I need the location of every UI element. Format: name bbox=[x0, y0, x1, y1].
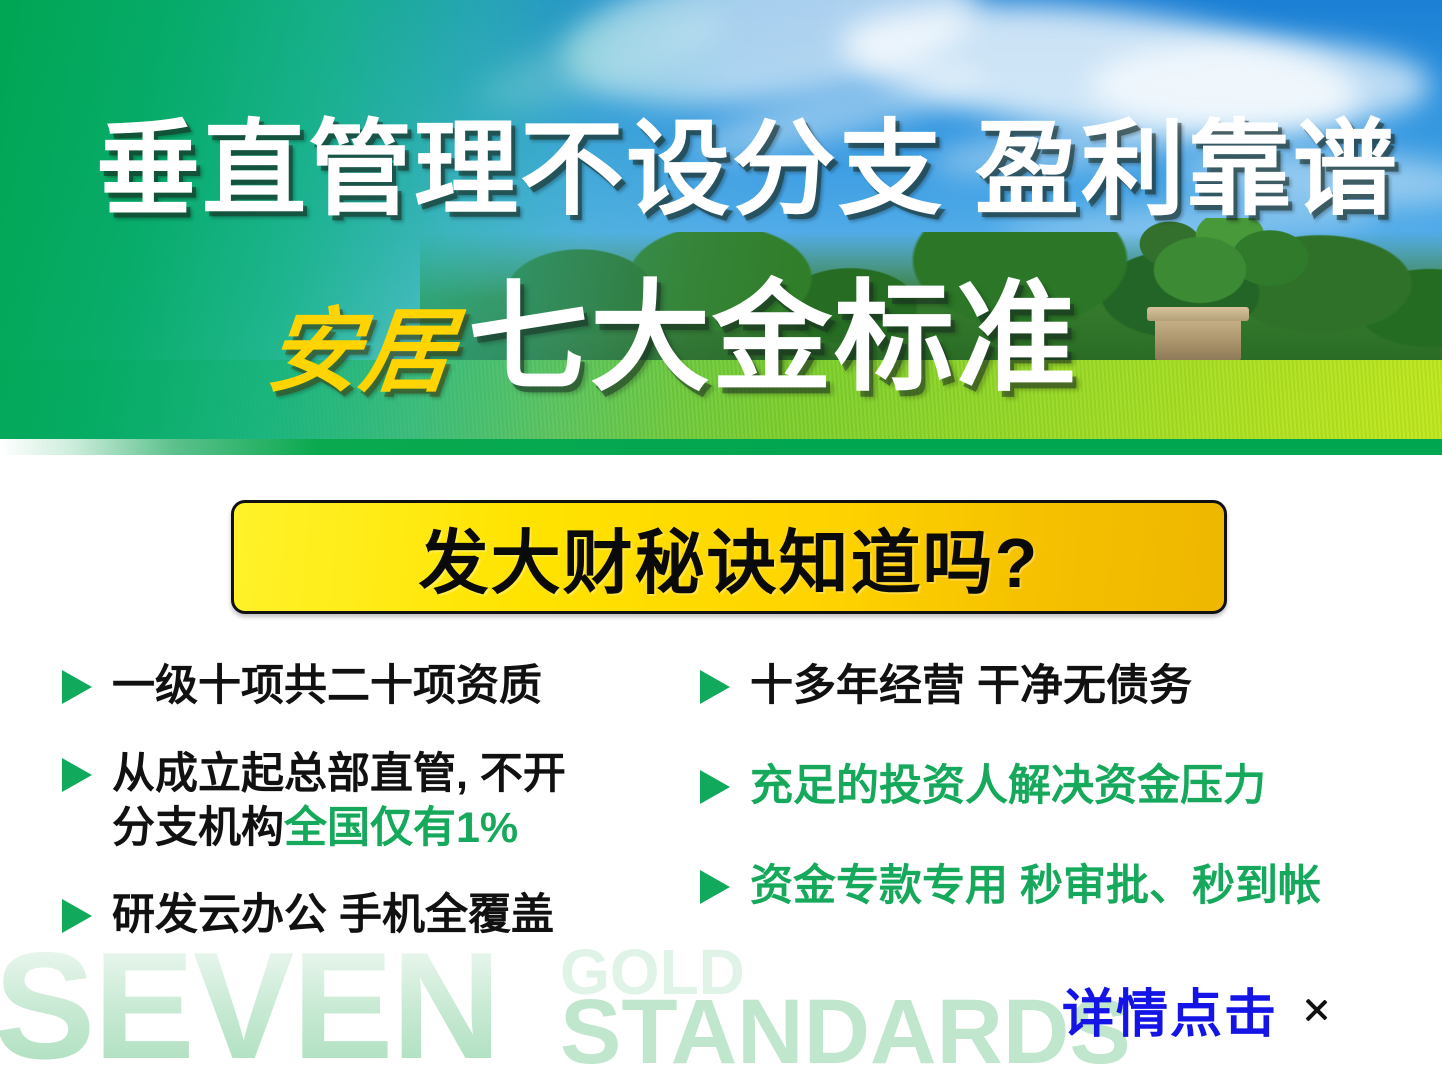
headline-secondary-main: 七大金标准 bbox=[468, 278, 1078, 398]
triangle-bullet-icon bbox=[700, 670, 730, 704]
feature-text: 资金专款专用 秒审批、秒到帐 bbox=[750, 860, 1321, 914]
watermark-standards: STANDARDS bbox=[560, 986, 1131, 1066]
feature-column-left: 一级十项共二十项资质 从成立起总部直管, 不开 分支机构全国仅有1% 研发云办公… bbox=[62, 660, 702, 977]
triangle-bullet-icon bbox=[62, 899, 92, 933]
question-banner-label: 发大财秘诀知道吗? bbox=[419, 507, 1040, 608]
feature-column-right: 十多年经营 干净无债务 充足的投资人解决资金压力 资金专款专用 秒审批、秒到帐 bbox=[700, 660, 1400, 959]
triangle-bullet-icon bbox=[62, 670, 92, 704]
hero-section: 垂直管理不设分支 盈利靠谱 安居七大金标准 bbox=[0, 0, 1442, 455]
feature-text-multiline: 从成立起总部直管, 不开 分支机构全国仅有1% bbox=[112, 748, 566, 856]
list-item: 从成立起总部直管, 不开 分支机构全国仅有1% bbox=[62, 748, 702, 856]
headline-secondary: 安居七大金标准 bbox=[268, 278, 1078, 398]
list-item: 一级十项共二十项资质 bbox=[62, 660, 702, 714]
question-banner[interactable]: 发大财秘诀知道吗? bbox=[231, 500, 1227, 614]
list-item: 资金专款专用 秒审批、秒到帐 bbox=[700, 860, 1400, 914]
feature-text: 充足的投资人解决资金压力 bbox=[750, 760, 1266, 814]
advertisement-banner: 垂直管理不设分支 盈利靠谱 安居七大金标准 发大财秘诀知道吗? 一级十项共二十项… bbox=[0, 0, 1442, 1066]
details-cta-label: 详情点击 bbox=[1062, 972, 1278, 1047]
triangle-bullet-icon bbox=[700, 770, 730, 804]
feature-text-line2-accent: 全国仅有1% bbox=[284, 804, 518, 852]
headline-primary: 垂直管理不设分支 盈利靠谱 bbox=[96, 118, 1399, 222]
chevron-right-icon bbox=[1304, 987, 1330, 1033]
feature-text-line1: 从成立起总部直管, 不开 bbox=[112, 750, 566, 798]
triangle-bullet-icon bbox=[62, 758, 92, 792]
list-item: 充足的投资人解决资金压力 bbox=[700, 760, 1400, 814]
triangle-bullet-icon bbox=[700, 870, 730, 904]
headline-brand-word: 安居 bbox=[263, 306, 459, 398]
feature-text: 十多年经营 干净无债务 bbox=[750, 660, 1192, 714]
feature-text-line2: 分支机构全国仅有1% bbox=[112, 802, 566, 856]
list-item: 十多年经营 干净无债务 bbox=[700, 660, 1400, 714]
details-cta-button[interactable]: 详情点击 bbox=[1062, 972, 1330, 1047]
feature-list: 一级十项共二十项资质 从成立起总部直管, 不开 分支机构全国仅有1% 研发云办公… bbox=[0, 660, 1442, 990]
feature-text-line2-dark: 分支机构 bbox=[112, 804, 284, 852]
hero-bottom-bar bbox=[0, 439, 1442, 455]
feature-text: 一级十项共二十项资质 bbox=[112, 660, 542, 714]
feature-text: 研发云办公 手机全覆盖 bbox=[112, 889, 554, 943]
list-item: 研发云办公 手机全覆盖 bbox=[62, 889, 702, 943]
